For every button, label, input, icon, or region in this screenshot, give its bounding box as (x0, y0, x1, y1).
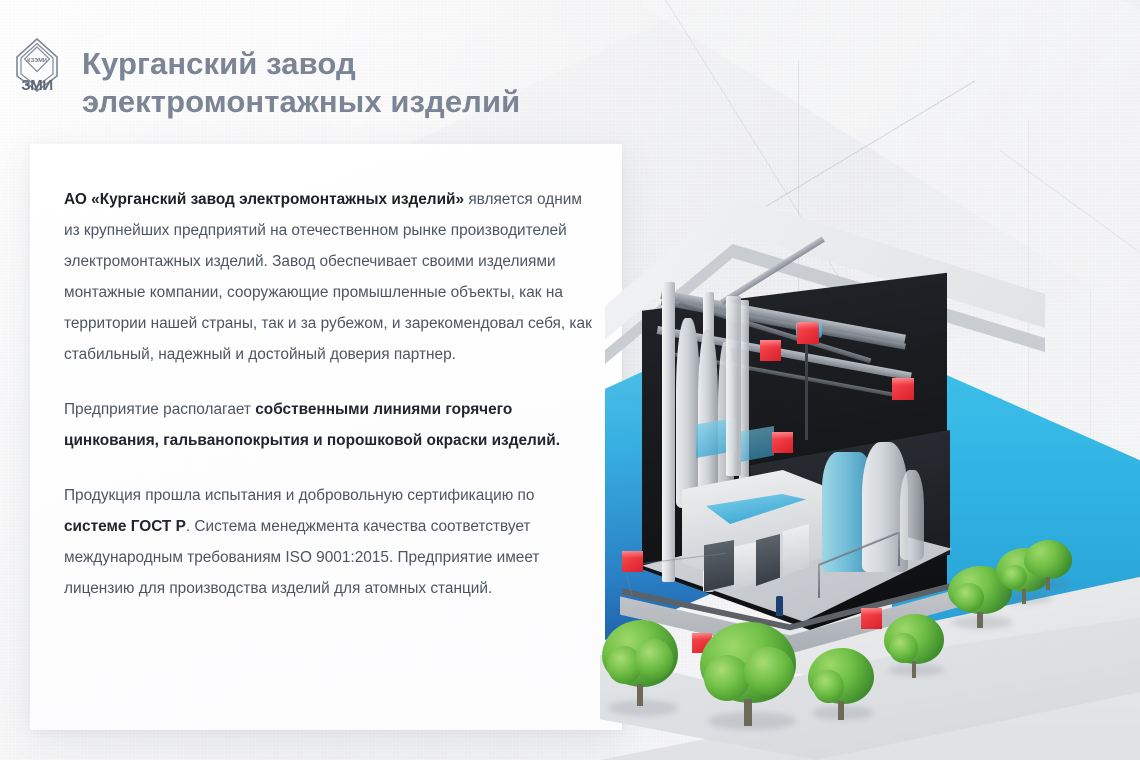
worker-figure (776, 596, 783, 616)
page-title-line-1: Курганский завод (82, 46, 356, 81)
logo-mark-text: ЗМИ (21, 77, 52, 94)
zmi-diamond-logo: КЗЭМИ ЗМИ (12, 36, 62, 94)
exhaust-duct-vertical (726, 296, 741, 476)
tree-crown (1024, 540, 1072, 579)
machinery-panel-dark-1 (704, 540, 734, 592)
process-tank-tall-1 (676, 318, 700, 508)
tree-trunk (977, 612, 982, 628)
red-marker-cube-6 (861, 608, 882, 629)
tree-crown-lobe (889, 633, 918, 662)
about-company-card: АО «Курганский завод электромонтажных из… (30, 144, 622, 730)
isometric-factory-illustration (600, 0, 1140, 760)
red-marker-cube-5 (622, 551, 643, 572)
tree-crown-lobe-2 (744, 647, 794, 695)
crane-hoist-cable (805, 332, 808, 440)
tree-1 (602, 620, 678, 706)
text-run: Предприятие располагает (64, 401, 255, 418)
storage-tank-small (900, 470, 924, 560)
machinery-panel-light (734, 542, 756, 590)
text-run-bold: системе ГОСТ Р (64, 518, 186, 535)
paragraph-company-intro: АО «Курганский завод электромонтажных из… (64, 184, 594, 370)
text-run-bold: АО «Курганский завод электромонтажных из… (64, 191, 464, 208)
about-company-text-block: АО «Курганский завод электромонтажных из… (64, 184, 594, 604)
tree-crown-lobe (813, 670, 843, 703)
tree-crown-lobe (954, 583, 983, 612)
tree-trunk (838, 701, 843, 720)
paragraph-production-lines: Предприятие располагает собственными лин… (64, 394, 594, 456)
page-title-line-2: электромонтажных изделий (82, 83, 642, 121)
tree-crown-lobe (704, 655, 750, 701)
logo-inner-text: КЗЭМИ (27, 58, 47, 64)
machinery-panel-dark-2 (756, 534, 780, 586)
tree-4 (884, 614, 944, 678)
tree-trunk (744, 699, 752, 726)
text-run: является одним из крупнейших предприятий… (64, 191, 592, 363)
column-1 (662, 282, 675, 582)
tree-trunk (1022, 589, 1026, 604)
safety-railing-post-2 (898, 532, 900, 566)
page-header: КЗЭМИ ЗМИ Курганский завод электромонтаж… (0, 0, 640, 145)
text-run: Продукция прошла испытания и добровольну… (64, 487, 534, 504)
red-marker-cube-1 (797, 322, 819, 344)
red-marker-cube-4 (772, 432, 793, 453)
red-marker-cube-3 (892, 378, 914, 400)
tree-trunk (912, 661, 917, 678)
page-title: Курганский завод электромонтажных издели… (82, 45, 642, 122)
tree-trunk (637, 684, 643, 706)
tree-trunk (1046, 577, 1050, 590)
worker-shadow (772, 614, 788, 619)
tree-2 (700, 622, 796, 726)
tree-3 (808, 648, 874, 720)
tree-7 (1024, 540, 1072, 590)
red-marker-cube-2 (760, 340, 781, 361)
process-tank-tall-2 (698, 330, 718, 510)
paragraph-certification: Продукция прошла испытания и добровольну… (64, 480, 594, 604)
safety-railing-post-1 (818, 564, 820, 598)
